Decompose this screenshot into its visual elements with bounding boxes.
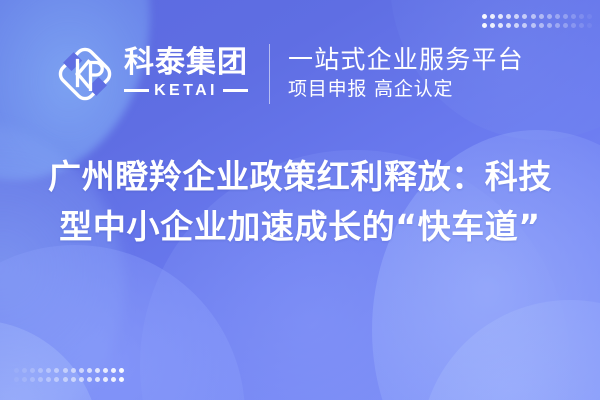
decorative-dot [482, 23, 487, 28]
decorative-dot [79, 377, 84, 382]
decorative-dot [547, 23, 552, 28]
decorative-dot [579, 23, 584, 28]
ketai-kp-diamond-logo-icon [55, 44, 115, 104]
decorative-dot [30, 368, 35, 373]
decorative-dot [579, 14, 584, 19]
decorative-dot [563, 23, 568, 28]
decorative-dot [514, 23, 519, 28]
brand-rule-right [223, 89, 248, 92]
decorative-dot [54, 377, 59, 382]
brand-wordmark: 科泰集团 KETAI [124, 48, 248, 100]
decorative-dot [587, 14, 592, 19]
decorative-dot [571, 14, 576, 19]
decorative-dot [119, 368, 124, 373]
decorative-dot [22, 377, 27, 382]
decorative-dot [522, 14, 527, 19]
decorative-dot [46, 368, 51, 373]
decorative-dot [22, 368, 27, 373]
dot-grid-top-right [482, 14, 595, 31]
dot-row [482, 14, 595, 23]
decorative-dot [563, 14, 568, 19]
decorative-dot [71, 368, 76, 373]
decorative-dot [498, 23, 503, 28]
decorative-dot [103, 377, 108, 382]
background-blob-bottom-left [0, 245, 245, 400]
decorative-dot [87, 377, 92, 382]
brand-name-cn: 科泰集团 [124, 48, 248, 79]
decorative-dot [587, 23, 592, 28]
background-blob-bottom-left-inner [0, 320, 100, 400]
decorative-dot [95, 377, 100, 382]
decorative-dot [506, 23, 511, 28]
decorative-dot [514, 14, 519, 19]
decorative-dot [103, 368, 108, 373]
decorative-dot [14, 368, 19, 373]
decorative-dot [531, 23, 536, 28]
tagline-block: 一站式企业服务平台 项目申报 高企认定 [288, 46, 524, 102]
decorative-dot [63, 368, 68, 373]
brand-rule-left [124, 89, 149, 92]
decorative-dot [111, 368, 116, 373]
decorative-dot [547, 14, 552, 19]
decorative-dot [71, 377, 76, 382]
brand-name-en-row: KETAI [124, 82, 248, 100]
decorative-dot [46, 377, 51, 382]
decorative-dot [539, 14, 544, 19]
decorative-dot [119, 377, 124, 382]
header-divider [269, 44, 270, 104]
decorative-dot [87, 368, 92, 373]
decorative-dot [490, 14, 495, 19]
promo-banner: 科泰集团 KETAI 一站式企业服务平台 项目申报 高企认定 广州瞪羚企业政策红… [0, 0, 600, 400]
tagline-secondary: 项目申报 高企认定 [288, 77, 524, 102]
decorative-dot [522, 23, 527, 28]
decorative-dot [498, 14, 503, 19]
background-blob-right-lower [420, 300, 600, 400]
decorative-dot [38, 377, 43, 382]
brand-name-en: KETAI [149, 82, 223, 100]
page-title: 广州瞪羚企业政策红利释放：科技 型中小企业加速成长的“快车道” [0, 152, 600, 252]
brand-logo-lockup[interactable]: 科泰集团 KETAI [55, 44, 248, 104]
decorative-dot [30, 377, 35, 382]
page-title-line-1: 广州瞪羚企业政策红利释放：科技 [0, 152, 600, 202]
decorative-dot [54, 368, 59, 373]
dot-grid-bottom-left [14, 368, 127, 385]
decorative-dot [111, 377, 116, 382]
decorative-dot [555, 23, 560, 28]
banner-header: 科泰集团 KETAI 一站式企业服务平台 项目申报 高企认定 [0, 36, 600, 112]
decorative-dot [482, 14, 487, 19]
dot-row [482, 23, 595, 32]
decorative-dot [79, 368, 84, 373]
decorative-dot [38, 368, 43, 373]
decorative-dot [539, 23, 544, 28]
decorative-dot [555, 14, 560, 19]
decorative-dot [14, 377, 19, 382]
dot-row [14, 368, 127, 377]
decorative-dot [490, 23, 495, 28]
decorative-dot [506, 14, 511, 19]
decorative-dot [571, 23, 576, 28]
decorative-dot [531, 14, 536, 19]
decorative-dot [63, 377, 68, 382]
decorative-dot [95, 368, 100, 373]
page-title-line-2: 型中小企业加速成长的“快车道” [0, 202, 600, 252]
dot-row [14, 377, 127, 386]
tagline-primary: 一站式企业服务平台 [288, 46, 524, 75]
